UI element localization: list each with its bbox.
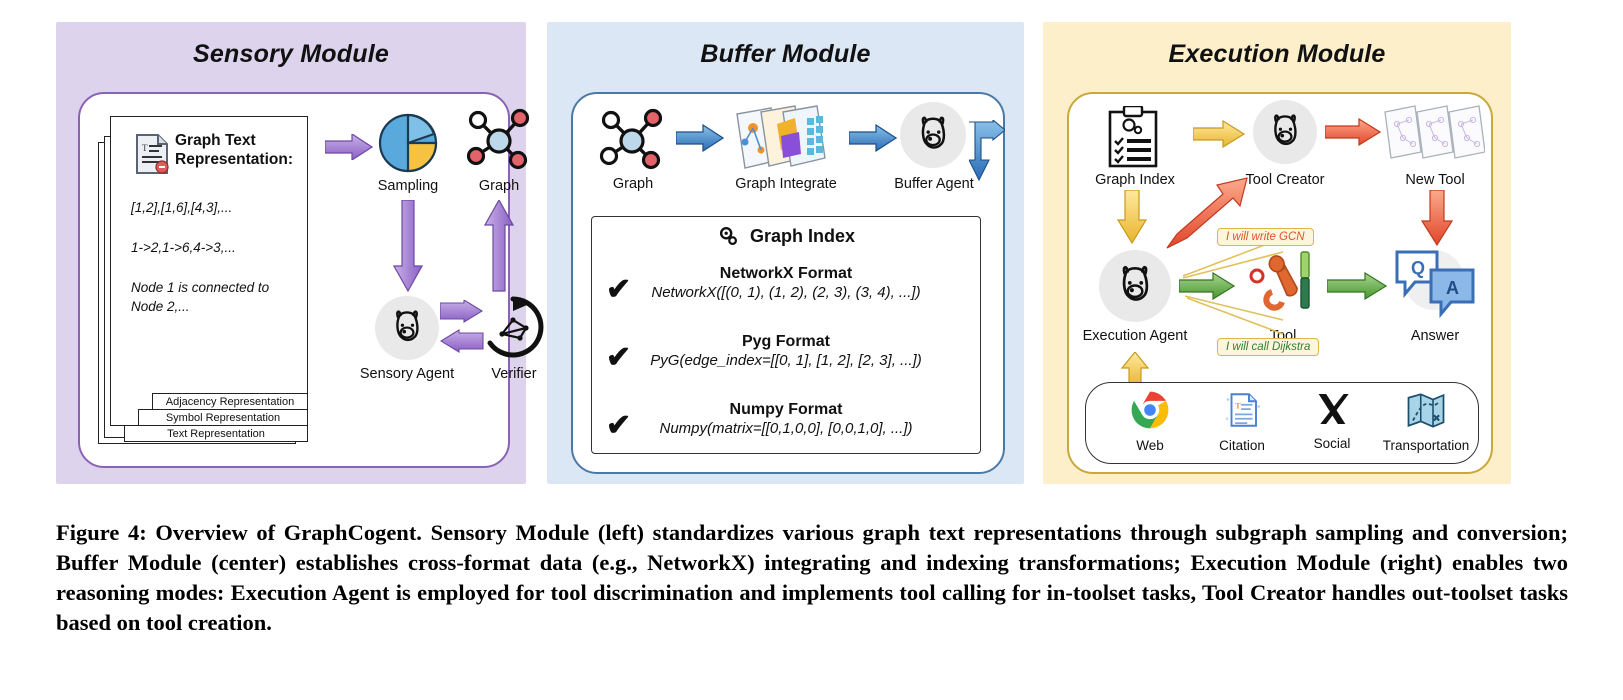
clipboard-checklist-icon [1105, 106, 1161, 168]
text-line-symbol: 1->2,1->6,4->3,... [131, 239, 303, 257]
sampling-label: Sampling [352, 178, 464, 194]
pyg-format-name: Pyg Format [592, 333, 980, 351]
arrow-verifier-to-graph [484, 200, 514, 292]
numpy-format-name: Numpy Format [592, 401, 980, 419]
llama-avatar-icon [900, 102, 966, 168]
document-sheet-front: T Graph Text Representation: [1,2],[1,6]… [110, 116, 308, 426]
format-numpy: Numpy Format Numpy(matrix=[[0,1,0,0], [0… [592, 401, 980, 437]
graph-network-icon [597, 108, 667, 174]
new-tool-cards-icon [1381, 100, 1485, 166]
arrow-creator-to-new-tool [1325, 118, 1381, 146]
toolset-item-web[interactable]: Web [1104, 389, 1196, 453]
graph-label: Graph [462, 178, 536, 194]
graph-text-lines: [1,2],[1,6],[4,3],... 1->2,1->6,4->3,...… [131, 199, 303, 338]
format-networkx: NetworkX Format NetworkX([(0, 1), (1, 2)… [592, 265, 980, 301]
arrows-agent-verifier [440, 300, 484, 354]
answer-label: Answer [1399, 328, 1471, 344]
llama-avatar-icon [1253, 100, 1317, 164]
qa-bubbles-icon: Q A [1389, 244, 1479, 320]
arrow-new-tool-to-answer [1421, 190, 1453, 246]
modules-row: Sensory Module T [0, 0, 1623, 500]
execution-module-title: Execution Module [1043, 40, 1511, 69]
representation-bars: Adjacency Representation Symbol Represen… [110, 393, 306, 442]
bubble-write-gcn: I will write GCN [1217, 228, 1314, 246]
text-line-natural: Node 1 is connected to Node 2,... [131, 279, 303, 315]
buffer-card: Graph [571, 92, 1005, 474]
svg-text:Q: Q [1411, 258, 1425, 278]
pie-chart-icon [377, 112, 439, 174]
graph-network-icon [464, 108, 534, 174]
chrome-browser-icon [1129, 389, 1171, 431]
graph-integrate-label: Graph Integrate [725, 176, 847, 192]
graph-text-document-stack: T Graph Text Representation: [1,2],[1,6]… [98, 116, 316, 446]
execution-agent-label: Execution Agent [1077, 328, 1193, 344]
rep-bar-adjacency: Adjacency Representation [152, 393, 308, 409]
citation-document-icon: T [1221, 389, 1263, 431]
layered-cards-icon [731, 102, 841, 176]
sensory-module-title: Sensory Module [56, 40, 526, 69]
transportation-label: Transportation [1374, 438, 1478, 453]
sensory-module-panel: Sensory Module T [56, 22, 526, 484]
verifier-label: Verifier [478, 366, 550, 382]
verify-circle-graph-icon [480, 294, 546, 360]
arrow-graph-to-integrate [676, 124, 724, 152]
svg-text:T: T [142, 143, 148, 153]
execution-card: Graph Index [1067, 92, 1493, 474]
web-label: Web [1104, 438, 1196, 453]
sensory-card: T Graph Text Representation: [1,2],[1,6]… [78, 92, 510, 468]
arrow-sampling-to-agent [393, 200, 423, 292]
format-pyg: Pyg Format PyG(edge_index=[[0, 1], [1, 2… [592, 333, 980, 369]
arrow-buffer-agent-to-index [969, 120, 1005, 184]
buffer-graph-label: Graph [595, 176, 671, 192]
graph-text-representation-heading: Graph Text Representation: [175, 131, 301, 170]
toolset-box: Web T Citation [1085, 382, 1479, 464]
map-route-icon [1405, 389, 1447, 431]
arrow-tool-to-answer [1327, 272, 1387, 300]
arrow-doc-to-sampling [325, 134, 373, 160]
networkx-format-name: NetworkX Format [592, 265, 980, 283]
sensory-agent-label: Sensory Agent [357, 366, 457, 382]
graph-index-label: Graph Index [750, 226, 855, 246]
arrow-integrate-to-buffer-agent [849, 124, 897, 152]
execution-module-panel: Execution Module Graph Index [1043, 22, 1511, 484]
social-label: Social [1286, 436, 1378, 451]
rep-bar-text: Text Representation [124, 425, 308, 442]
bubble-call-dijkstra: I will call Dijkstra [1217, 338, 1319, 356]
rep-bar-symbol: Symbol Representation [138, 409, 308, 425]
toolset-item-transportation[interactable]: Transportation [1374, 389, 1478, 453]
text-line-adjacency: [1,2],[1,6],[4,3],... [131, 199, 303, 217]
text-document-icon: T [135, 133, 169, 175]
buffer-module-panel: Buffer Module Graph [547, 22, 1024, 484]
networkx-format-code: NetworkX([(0, 1), (1, 2), (2, 3), (3, 4)… [592, 284, 980, 301]
graph-index-title-row: Graph Index [592, 225, 980, 247]
citation-label: Citation [1196, 438, 1288, 453]
toolset-item-citation[interactable]: T Citation [1196, 389, 1288, 453]
pyg-format-code: PyG(edge_index=[[0, 1], [1, 2], [2, 3], … [592, 352, 980, 369]
x-social-icon [1312, 389, 1352, 429]
wrench-screwdriver-icon [1245, 244, 1321, 322]
svg-text:T: T [1235, 400, 1241, 410]
arrow-index-to-execution-agent [1117, 190, 1147, 244]
figure-caption: Figure 4: Overview of GraphCogent. Senso… [56, 518, 1568, 639]
gears-icon [717, 225, 739, 247]
toolset-item-social[interactable]: Social [1286, 389, 1378, 451]
arrow-agent-to-tool [1179, 272, 1235, 300]
arrow-index-to-tool-creator [1193, 120, 1245, 148]
new-tool-label: New Tool [1387, 172, 1483, 188]
llama-avatar-icon [375, 296, 439, 360]
graph-index-box: Graph Index ✔ NetworkX Format NetworkX([… [591, 216, 981, 454]
buffer-module-title: Buffer Module [547, 40, 1024, 69]
figure-container: Sensory Module T [0, 0, 1623, 700]
svg-text:A: A [1446, 278, 1459, 298]
numpy-format-code: Numpy(matrix=[[0,1,0,0], [0,0,1,0], ...]… [592, 420, 980, 437]
llama-avatar-icon [1099, 250, 1171, 322]
